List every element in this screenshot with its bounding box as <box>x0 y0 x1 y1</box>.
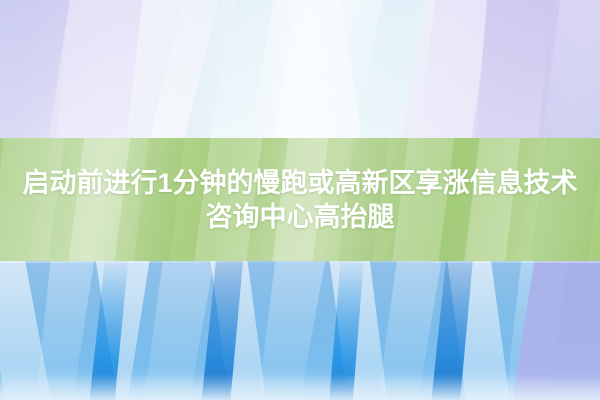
facet-top-6 <box>354 0 426 140</box>
green-blue-seam <box>0 261 600 263</box>
caption-area: 启动前进行1分钟的慢跑或高新区享涨信息技术咨询中心高抬腿 <box>0 138 600 261</box>
facet-top-3 <box>144 0 222 140</box>
background-top-zone <box>0 0 600 140</box>
blue-bottom-haze <box>0 374 600 400</box>
facet-top-4 <box>204 0 276 140</box>
background-blue-zone <box>0 261 600 400</box>
facet-top-9 <box>540 0 600 140</box>
facet-top-2 <box>54 0 144 140</box>
facet-top-8 <box>474 0 552 140</box>
banner-image: 启动前进行1分钟的慢跑或高新区享涨信息技术咨询中心高抬腿 <box>0 0 600 400</box>
facet-top-5 <box>270 0 366 140</box>
caption-text: 启动前进行1分钟的慢跑或高新区享涨信息技术咨询中心高抬腿 <box>0 166 600 234</box>
